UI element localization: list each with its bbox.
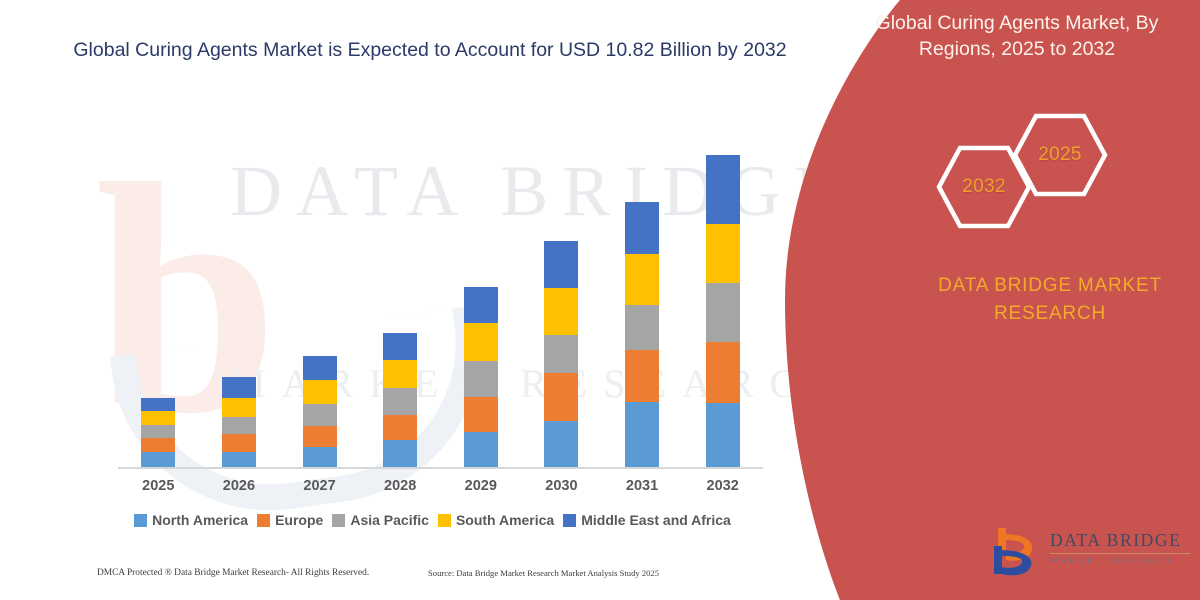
x-axis-tick-label: 2026 — [199, 478, 279, 494]
legend-item[interactable]: Middle East and Africa — [563, 512, 731, 528]
legend-item[interactable]: North America — [134, 512, 248, 528]
bar-segment — [303, 380, 337, 404]
x-axis-tick-label: 2027 — [280, 478, 360, 494]
x-axis-tick-label: 2025 — [118, 478, 198, 494]
bar-segment — [464, 361, 498, 397]
hexagon-2025: 2025 — [1012, 113, 1108, 197]
x-axis-labels: 20252026202720282029203020312032 — [118, 478, 763, 494]
legend-item[interactable]: Europe — [257, 512, 323, 528]
x-axis-tick-label: 2032 — [683, 478, 763, 494]
bar-segment — [303, 426, 337, 447]
stacked-bar — [464, 287, 498, 467]
logo-mark-icon — [988, 526, 1044, 578]
x-axis-tick-label: 2028 — [360, 478, 440, 494]
bar-segment — [464, 432, 498, 467]
stacked-bar-chart — [118, 140, 763, 467]
stacked-bar — [222, 377, 256, 467]
legend-label: South America — [456, 512, 554, 528]
bar-segment — [303, 404, 337, 426]
legend-label: Europe — [275, 512, 323, 528]
bar-segment — [141, 452, 175, 467]
bar-segment — [383, 360, 417, 388]
bar-segment — [383, 415, 417, 440]
legend-label: Asia Pacific — [350, 512, 429, 528]
bar-segment — [222, 398, 256, 417]
bar-segment — [464, 323, 498, 361]
bar-segment — [544, 373, 578, 421]
bar-segment — [706, 342, 740, 403]
bar-segment — [141, 438, 175, 452]
stacked-bar — [141, 398, 175, 467]
bar-segment — [544, 421, 578, 467]
x-axis-tick-label: 2030 — [521, 478, 601, 494]
bar-segment — [544, 335, 578, 373]
bar-column — [118, 140, 198, 467]
bar-segment — [141, 411, 175, 425]
bar-segment — [625, 305, 659, 350]
bar-column — [199, 140, 279, 467]
legend-swatch — [438, 514, 451, 527]
bar-segment — [383, 388, 417, 415]
bar-column — [280, 140, 360, 467]
bar-segment — [141, 398, 175, 411]
legend-item[interactable]: Asia Pacific — [332, 512, 429, 528]
bar-segment — [464, 397, 498, 432]
bar-segment — [625, 254, 659, 305]
legend-label: North America — [152, 512, 248, 528]
bar-segment — [625, 202, 659, 254]
bar-column — [360, 140, 440, 467]
bar-segment — [706, 155, 740, 224]
panel-title: Global Curing Agents Market, By Regions,… — [852, 10, 1182, 63]
page-title: Global Curing Agents Market is Expected … — [60, 36, 800, 64]
bar-column — [521, 140, 601, 467]
bar-segment — [706, 403, 740, 467]
bar-segment — [222, 434, 256, 452]
bar-segment — [141, 425, 175, 438]
bar-segment — [544, 241, 578, 288]
logo-divider — [1050, 553, 1190, 554]
x-axis-tick-label: 2031 — [602, 478, 682, 494]
x-axis-line — [118, 467, 763, 469]
bar-segment — [625, 350, 659, 402]
bar-column — [441, 140, 521, 467]
legend-item[interactable]: South America — [438, 512, 554, 528]
stacked-bar — [706, 155, 740, 467]
legend-swatch — [332, 514, 345, 527]
legend-swatch — [257, 514, 270, 527]
legend-label: Middle East and Africa — [581, 512, 731, 528]
logo-wordmark: DATA BRIDGE MARKET RESEARCH — [1050, 530, 1190, 565]
data-bridge-logo: DATA BRIDGE MARKET RESEARCH — [988, 524, 1188, 580]
footer-source: Source: Data Bridge Market Research Mark… — [428, 568, 659, 578]
bar-segment — [383, 440, 417, 467]
bar-segment — [303, 447, 337, 467]
bar-segment — [222, 377, 256, 398]
bar-segment — [222, 417, 256, 434]
logo-sub-text: MARKET RESEARCH — [1050, 556, 1190, 565]
hexagon-2025-label: 2025 — [1038, 144, 1081, 166]
stacked-bar — [383, 333, 417, 467]
chart-legend: North AmericaEuropeAsia PacificSouth Ame… — [100, 512, 765, 528]
bar-segment — [544, 288, 578, 335]
legend-swatch — [134, 514, 147, 527]
x-axis-tick-label: 2029 — [441, 478, 521, 494]
bar-column — [602, 140, 682, 467]
brand-name: DATA BRIDGE MARKET RESEARCH — [900, 272, 1200, 327]
bar-segment — [464, 287, 498, 323]
bar-segment — [706, 283, 740, 342]
stacked-bar — [625, 202, 659, 467]
hexagon-2032-label: 2032 — [962, 176, 1005, 198]
stacked-bar — [303, 356, 337, 467]
logo-main-text: DATA BRIDGE — [1050, 530, 1190, 551]
footer-copyright: DMCA Protected ® Data Bridge Market Rese… — [97, 568, 369, 578]
bar-segment — [706, 224, 740, 283]
bar-segment — [383, 333, 417, 360]
infographic-page: b DATA BRIDGE MARKET RESEARCH Global Cur… — [0, 0, 1200, 600]
bar-segment — [625, 402, 659, 467]
bar-column — [683, 140, 763, 467]
bar-segment — [222, 452, 256, 467]
bar-segment — [303, 356, 337, 380]
legend-swatch — [563, 514, 576, 527]
stacked-bar — [544, 241, 578, 467]
